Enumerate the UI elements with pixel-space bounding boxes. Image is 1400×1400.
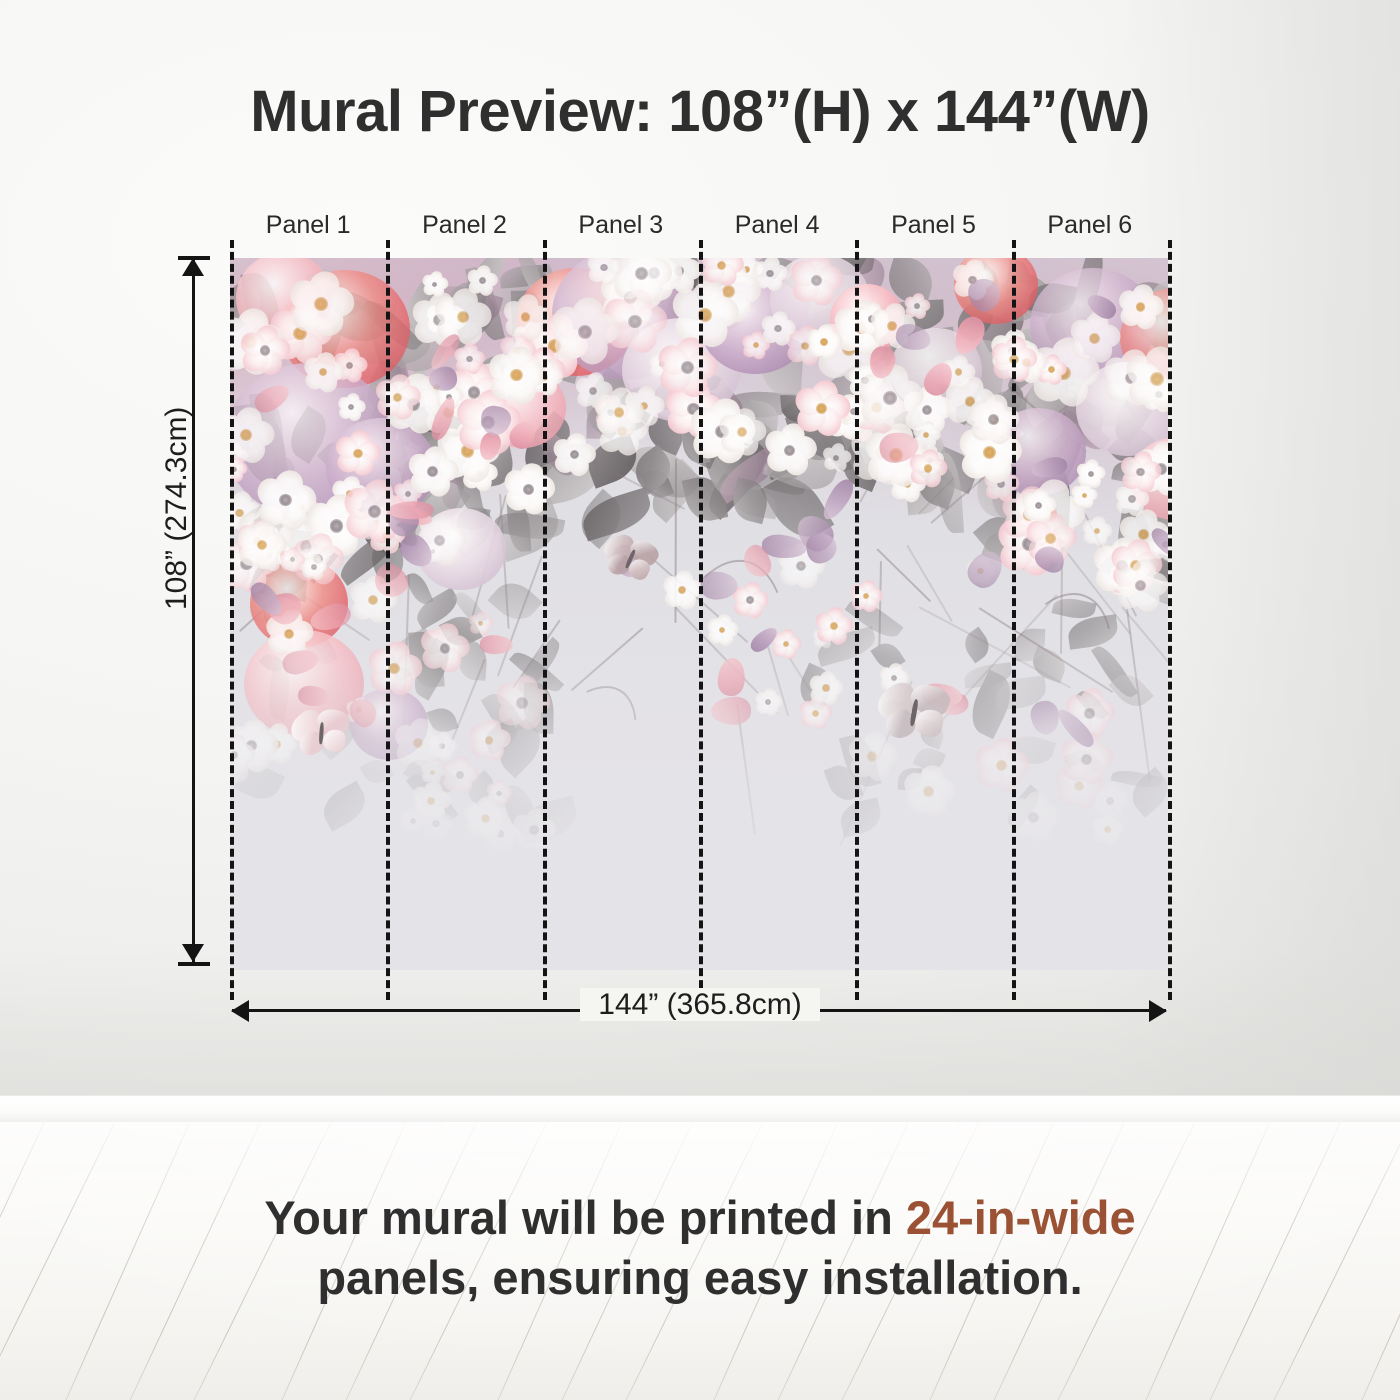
caption-line-2: panels, ensuring easy installation. [0, 1248, 1400, 1308]
blossom-center [405, 491, 411, 497]
blossom-center [457, 311, 469, 323]
blossom-center [1136, 468, 1145, 477]
blossom-motif [806, 324, 841, 359]
blossom-motif [335, 431, 381, 477]
blossom-center [427, 466, 438, 477]
blossom-motif [237, 520, 287, 570]
mural-preview-screenshot: Mural Preview: 108”(H) x 144”(W) Panel 1… [0, 0, 1400, 1400]
page-title: Mural Preview: 108”(H) x 144”(W) [0, 78, 1400, 145]
blossom-motif [434, 288, 492, 346]
height-bottom-cap [178, 962, 210, 966]
blossom-center [914, 303, 919, 308]
blossom-motif [793, 381, 849, 437]
footer-caption: Your mural will be printed in 24-in-wide… [0, 1188, 1400, 1308]
blossom-center [887, 321, 896, 330]
blossom-motif [909, 449, 947, 487]
blossom-center [1088, 471, 1094, 477]
caption-accent-panel-width: 24-in-wide [906, 1191, 1136, 1244]
panel-label-2: Panel 2 [386, 210, 542, 244]
panel-label-1: Panel 1 [230, 210, 386, 244]
height-dimension-line [192, 258, 195, 962]
blossom-center [784, 445, 795, 456]
blossom-motif [822, 443, 851, 472]
blossom-center [811, 275, 822, 286]
blossom-center [240, 429, 252, 441]
blossom-center [353, 449, 363, 459]
caption-line-1-pre: Your mural will be printed in [264, 1191, 906, 1244]
blossom-center [314, 297, 328, 311]
butterfly-wing [322, 729, 346, 753]
blossom-center [1150, 372, 1163, 385]
blossom-center [766, 270, 773, 277]
mural-edge-line [1168, 240, 1172, 1000]
blossom-center [466, 356, 473, 363]
arrow-down-icon [182, 944, 204, 962]
blossom-center [774, 325, 781, 332]
blossom-motif [288, 271, 353, 336]
blossom-center [510, 369, 522, 381]
blossom-center [260, 345, 271, 356]
blossom-motif [551, 298, 619, 366]
blossom-center [570, 450, 579, 459]
blossom-center [1136, 302, 1146, 312]
panel-divider-3 [699, 240, 703, 1000]
panel-label-6: Panel 6 [1012, 210, 1168, 244]
blossom-center [635, 267, 648, 280]
blossom-motif [553, 433, 596, 476]
blossom-center [330, 519, 343, 532]
blossom-center [311, 564, 316, 569]
blossom-center [1128, 495, 1135, 502]
butterfly-wing [913, 707, 945, 739]
blossom-center [681, 361, 694, 374]
blossom-center [578, 325, 592, 339]
height-dimension-label: 108” (274.3cm) [160, 407, 194, 610]
blossom-center [1089, 333, 1100, 344]
blossom-motif [1120, 452, 1161, 493]
blossom-motif [407, 446, 458, 497]
blossom-motif [857, 365, 923, 431]
blossom-center [883, 391, 897, 405]
panel-divider-1 [386, 240, 390, 1000]
blossom-motif [502, 294, 548, 340]
panel-label-4: Panel 4 [699, 210, 855, 244]
butterfly-right-icon [875, 678, 957, 754]
panel-label-row: Panel 1 Panel 2 Panel 3 Panel 4 Panel 5 … [230, 210, 1168, 244]
panel-label-3: Panel 3 [543, 210, 699, 244]
panel-divider-5 [1012, 240, 1016, 1000]
blossom-center [796, 561, 806, 571]
blossom-center [1045, 533, 1056, 544]
blossom-motif [1022, 488, 1057, 523]
blossom-center [368, 505, 381, 518]
panel-divider-4 [855, 240, 859, 1000]
blossom-center [628, 315, 641, 328]
blossom-center [479, 277, 486, 284]
blossom-motif [488, 346, 546, 404]
blossom-center [1138, 529, 1149, 540]
width-dimension-text: 144” (365.8cm) [580, 988, 819, 1021]
blossom-motif [662, 570, 702, 610]
blossom-motif [718, 408, 766, 456]
blossom-motif [240, 325, 290, 375]
blossom-center [717, 261, 726, 270]
blossom-center [820, 338, 827, 345]
bud-motif [387, 501, 434, 520]
blossom-center [830, 622, 838, 630]
panel-divider-2 [543, 240, 547, 1000]
blossom-center [955, 368, 962, 375]
butterfly-center-icon [599, 532, 663, 591]
blossom-center [614, 407, 625, 418]
panel-label-5: Panel 5 [855, 210, 1011, 244]
blossom-center [746, 596, 754, 604]
blossom-center [600, 264, 607, 271]
blossom-center [1048, 366, 1054, 372]
baseboard [0, 1095, 1400, 1123]
blossom-motif [1069, 313, 1120, 364]
blossom-center [924, 464, 932, 472]
blossom-motif [454, 343, 485, 374]
blossom-center [589, 387, 597, 395]
mural-edge-line [230, 240, 234, 1000]
blossom-motif [761, 311, 796, 346]
caption-line-1: Your mural will be printed in 24-in-wide [0, 1188, 1400, 1248]
blossom-motif [467, 265, 498, 296]
blossom-center [988, 414, 999, 425]
width-dimension-label: 144” (365.8cm) [0, 988, 1400, 1022]
